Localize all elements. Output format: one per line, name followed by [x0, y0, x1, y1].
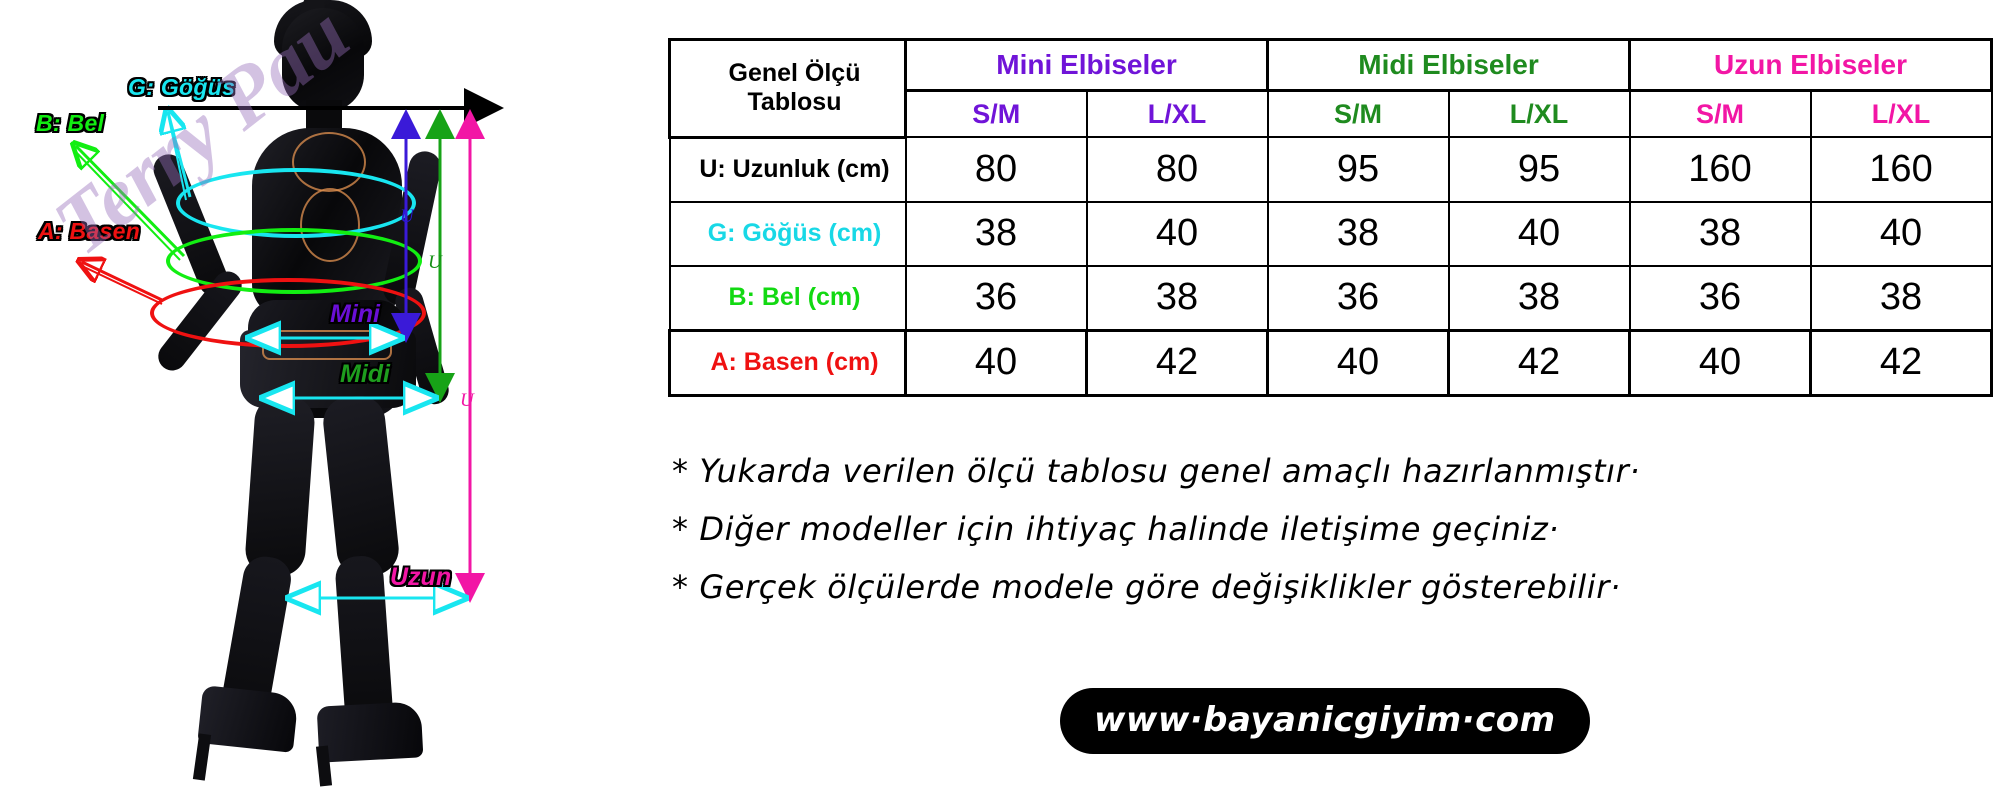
cell-value: 80 [906, 137, 1087, 202]
group-header-mini: Mini Elbiseler [906, 40, 1268, 91]
cell-value: 40 [906, 330, 1087, 395]
table-row: B: Bel (cm) 36 38 36 38 36 38 [670, 266, 1992, 331]
cell-value: 42 [1087, 330, 1268, 395]
label-mini: Mini [330, 300, 380, 329]
length-marker-u-mini: U [400, 206, 414, 228]
group-header-midi: Midi Elbiseler [1268, 40, 1630, 91]
cell-value: 38 [1268, 202, 1449, 266]
table-row: A: Basen (cm) 40 42 40 42 40 42 [670, 330, 1992, 395]
cell-value: 160 [1630, 137, 1811, 202]
cell-value: 38 [1630, 202, 1811, 266]
cell-value: 38 [1087, 266, 1268, 331]
info-panel: Genel Ölçü Tablosu Mini Elbiseler Midi E… [660, 0, 2010, 811]
row-label-gogus: G: Göğüs (cm) [670, 202, 906, 266]
size-header-uzun-sm: S/M [1630, 91, 1811, 138]
size-chart-table: Genel Ölçü Tablosu Mini Elbiseler Midi E… [668, 38, 1993, 397]
length-marker-u-uzun: U [460, 390, 474, 412]
row-label-uzunluk: U: Uzunluk (cm) [670, 137, 906, 202]
cell-value: 40 [1087, 202, 1268, 266]
cell-value: 95 [1268, 137, 1449, 202]
length-dimension-arrows [0, 0, 660, 811]
group-header-uzun: Uzun Elbiseler [1630, 40, 1992, 91]
size-header-mini-sm: S/M [906, 91, 1087, 138]
notes-list: * Yukarda verilen ölçü tablosu genel ama… [672, 452, 1992, 626]
cell-value: 160 [1811, 137, 1992, 202]
size-header-midi-lxl: L/XL [1449, 91, 1630, 138]
label-uzun: Uzun [390, 563, 451, 592]
cell-value: 38 [1811, 266, 1992, 331]
cell-value: 36 [906, 266, 1087, 331]
size-header-mini-lxl: L/XL [1087, 91, 1268, 138]
note-item: * Diğer modeller için ihtiyaç halinde il… [672, 510, 1992, 548]
model-figure-diagram: G: Göğüs B: Bel A: Basen [0, 0, 660, 811]
size-header-midi-sm: S/M [1268, 91, 1449, 138]
website-url: www·bayanicgiyim·com [1060, 688, 1590, 754]
label-midi: Midi [340, 360, 390, 389]
table-row: G: Göğüs (cm) 38 40 38 40 38 40 [670, 202, 1992, 266]
cell-value: 95 [1449, 137, 1630, 202]
cell-value: 80 [1087, 137, 1268, 202]
cell-value: 38 [906, 202, 1087, 266]
note-item: * Yukarda verilen ölçü tablosu genel ama… [672, 452, 1992, 490]
cell-value: 36 [1268, 266, 1449, 331]
cell-value: 42 [1449, 330, 1630, 395]
website-banner: www·bayanicgiyim·com [1060, 688, 1590, 754]
size-header-uzun-lxl: L/XL [1811, 91, 1992, 138]
cell-value: 40 [1811, 202, 1992, 266]
table-header-group-row: Genel Ölçü Tablosu Mini Elbiseler Midi E… [670, 40, 1992, 91]
table-corner-label: Genel Ölçü Tablosu [670, 40, 906, 138]
length-marker-u-midi: U [428, 252, 442, 274]
cell-value: 40 [1449, 202, 1630, 266]
row-label-basen: A: Basen (cm) [670, 330, 906, 395]
size-chart-image: G: Göğüs B: Bel A: Basen [0, 0, 2010, 811]
table-row: U: Uzunluk (cm) 80 80 95 95 160 160 [670, 137, 1992, 202]
row-label-bel: B: Bel (cm) [670, 266, 906, 331]
note-item: * Gerçek ölçülerde modele göre değişikli… [672, 568, 1992, 606]
cell-value: 40 [1630, 330, 1811, 395]
cell-value: 42 [1811, 330, 1992, 395]
cell-value: 36 [1630, 266, 1811, 331]
cell-value: 38 [1449, 266, 1630, 331]
cell-value: 40 [1268, 330, 1449, 395]
